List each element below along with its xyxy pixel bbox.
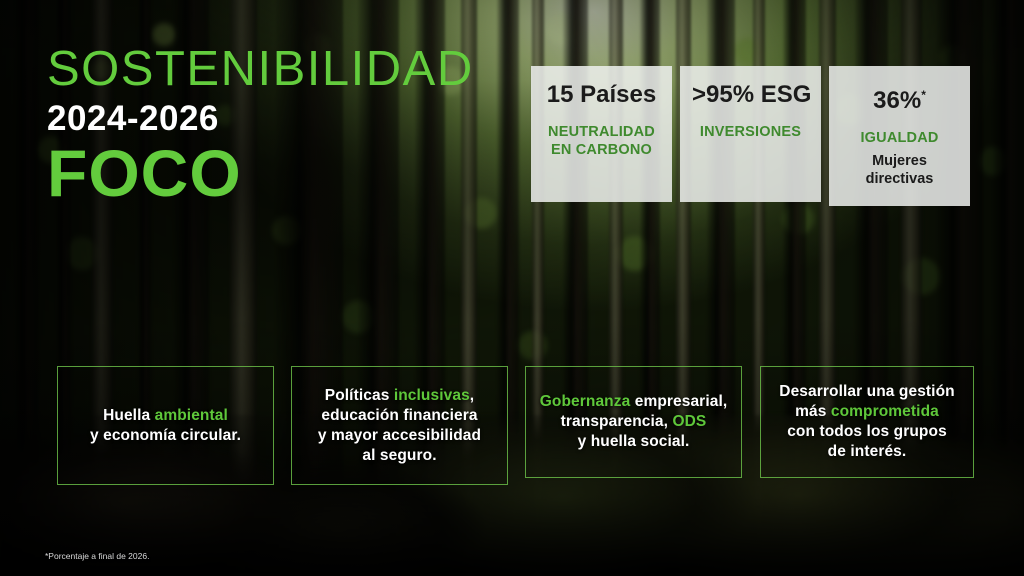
stat-label-line2: EN CARBONO <box>551 142 652 158</box>
stat-label: NEUTRALIDADEN CARBONO <box>543 123 660 159</box>
headline-block: SOSTENIBILIDAD 2024-2026 FOCO <box>47 42 474 208</box>
pillar-text: Gobernanza empresarial,transparencia, OD… <box>540 392 728 452</box>
stat-card: 15 PaísesNEUTRALIDADEN CARBONO <box>531 66 672 202</box>
pillar-highlight-word: ambiental <box>155 407 228 424</box>
stat-value: 36%* <box>841 80 958 116</box>
stat-sublabel: Mujeresdirectivas <box>841 152 958 188</box>
pillar-plain-text: con todos los grupos <box>787 423 947 440</box>
pillar-plain-text: Políticas <box>325 387 394 404</box>
pillar-plain-text: y economía circular. <box>90 427 241 444</box>
stat-label: INVERSIONES <box>692 123 809 141</box>
stat-value-asterisk: * <box>921 88 926 102</box>
pillar-card-gestion-comprometida: Desarrollar una gestiónmás comprometidac… <box>760 366 974 478</box>
page-title-years: 2024-2026 <box>47 98 474 140</box>
pillar-text: Desarrollar una gestiónmás comprometidac… <box>779 382 954 462</box>
pillar-text: Políticas inclusivas,educación financier… <box>318 386 481 466</box>
pillar-highlight-word: comprometida <box>831 403 939 420</box>
stat-value: 15 Países <box>543 80 660 110</box>
pillar-plain-text: y huella social. <box>578 433 690 450</box>
pillar-highlight-word: Gobernanza <box>540 393 631 410</box>
page-title-focus: FOCO <box>47 138 474 208</box>
pillar-plain-text: Huella <box>103 407 155 424</box>
pillars-row: Huella ambientaly economía circular.Polí… <box>57 366 974 485</box>
pillar-plain-text: educación financiera <box>321 407 477 424</box>
pillar-highlight-word: ODS <box>672 413 706 430</box>
pillar-card-politicas-inclusivas: Políticas inclusivas,educación financier… <box>291 366 508 485</box>
pillar-plain-text: Desarrollar una gestión <box>779 383 954 400</box>
pillar-text: Huella ambientaly economía circular. <box>90 406 241 446</box>
stat-sublabel-line2: directivas <box>866 171 934 187</box>
pillar-plain-text: y mayor accesibilidad <box>318 427 481 444</box>
pillar-plain-text: más <box>795 403 831 420</box>
stat-card: 36%*IGUALDADMujeresdirectivas <box>829 66 970 206</box>
pillar-plain-text: , <box>470 387 474 404</box>
stat-card: >95% ESGINVERSIONES <box>680 66 821 202</box>
page-title-eyebrow: SOSTENIBILIDAD <box>47 42 474 96</box>
footnote: *Porcentaje a final de 2026. <box>45 551 149 562</box>
stat-label: IGUALDAD <box>841 129 958 147</box>
pillar-card-huella-ambiental: Huella ambientaly economía circular. <box>57 366 274 485</box>
sustainability-slide: SOSTENIBILIDAD 2024-2026 FOCO 15 PaísesN… <box>0 0 1024 576</box>
pillar-card-gobernanza: Gobernanza empresarial,transparencia, OD… <box>525 366 742 478</box>
pillar-plain-text: transparencia, <box>561 413 673 430</box>
pillar-highlight-word: inclusivas <box>394 387 470 404</box>
stat-value: >95% ESG <box>692 80 809 110</box>
pillar-plain-text: al seguro. <box>362 447 436 464</box>
pillar-plain-text: de interés. <box>828 443 907 460</box>
stats-row: 15 PaísesNEUTRALIDADEN CARBONO>95% ESGIN… <box>531 66 970 206</box>
pillar-plain-text: empresarial, <box>630 393 727 410</box>
